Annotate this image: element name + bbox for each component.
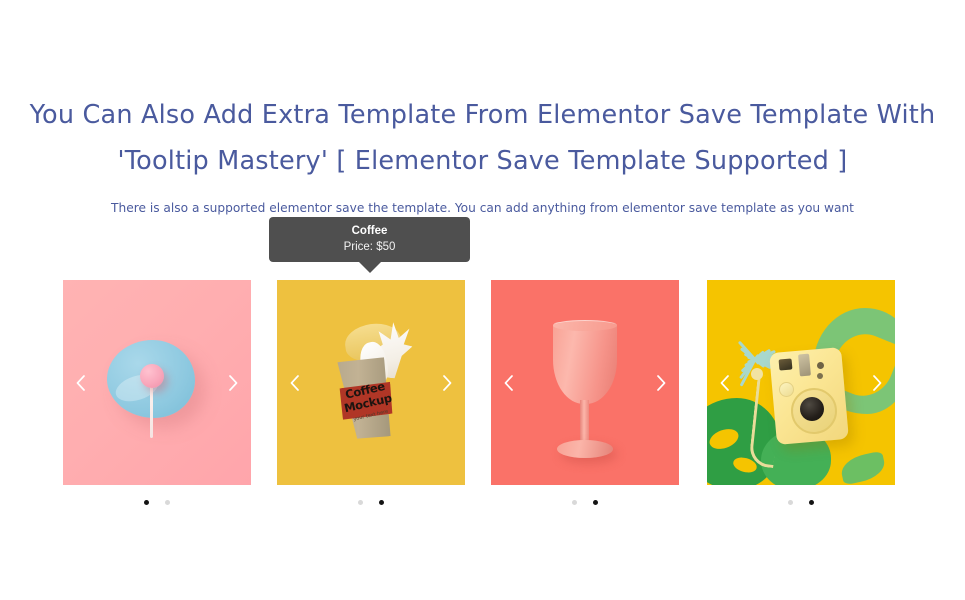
page-title-line-2: 'Tooltip Mastery' [ Elementor Save Templ… [0,138,965,184]
tooltip-price: Price: $50 [269,239,470,255]
goblet-bowl-shape [553,322,617,404]
carousel-card-3[interactable] [491,280,679,485]
carousel-card-4[interactable] [707,280,895,485]
camera-shutter-button-shape [779,382,794,397]
card-3-next-arrow-icon[interactable] [650,372,672,394]
card-1-dot-1[interactable] [144,500,149,505]
camera-flash-shape [779,358,793,370]
carousel-card-row: Coffee Mockup your text here [63,280,902,510]
card-2-dot-1[interactable] [358,500,363,505]
page-subtitle: There is also a supported elementor save… [0,200,965,216]
goblet-foot-shape [557,440,613,458]
card-2-next-arrow-icon[interactable] [436,372,458,394]
camera-sensor-1-shape [817,362,824,369]
camera-strap-knob-shape [751,368,763,380]
tooltip-arrow-icon [359,262,381,273]
card-4-dots [707,492,895,506]
card-3-dots [491,492,679,506]
card-4-media [707,280,895,485]
card-1-dot-2[interactable] [165,500,170,505]
lollipop-stick-shape [150,380,153,438]
card-1-next-arrow-icon[interactable] [222,372,244,394]
carousel-card-2[interactable]: Coffee Mockup your text here [277,280,465,485]
card-3-dot-1[interactable] [572,500,577,505]
card-1-media [63,280,251,485]
camera-sensor-2-shape [817,373,823,379]
card-4-dot-1[interactable] [788,500,793,505]
card-2-media: Coffee Mockup your text here [277,280,465,485]
card-3-prev-arrow-icon[interactable] [498,372,520,394]
card-4-prev-arrow-icon[interactable] [714,372,736,394]
page-root: You Can Also Add Extra Template From Ele… [0,0,965,600]
lollipop-ball-shape [140,364,164,388]
card-2-dots [277,492,465,506]
card-1-prev-arrow-icon[interactable] [70,372,92,394]
goblet-rim-shape [553,320,617,331]
card-4-next-arrow-icon[interactable] [866,372,888,394]
card-3-media [491,280,679,485]
carousel-card-1[interactable] [63,280,251,485]
card-2-prev-arrow-icon[interactable] [284,372,306,394]
card-3-dot-2[interactable] [593,500,598,505]
tooltip-popup: Coffee Price: $50 [269,217,470,262]
card-4-dot-2[interactable] [809,500,814,505]
camera-strip-shape [798,354,811,377]
page-title-line-1: You Can Also Add Extra Template From Ele… [0,92,965,138]
card-2-dot-2[interactable] [379,500,384,505]
camera-lens-shape [800,397,824,421]
page-title: You Can Also Add Extra Template From Ele… [0,92,965,184]
card-1-dots [63,492,251,506]
tooltip-title: Coffee [269,223,470,239]
